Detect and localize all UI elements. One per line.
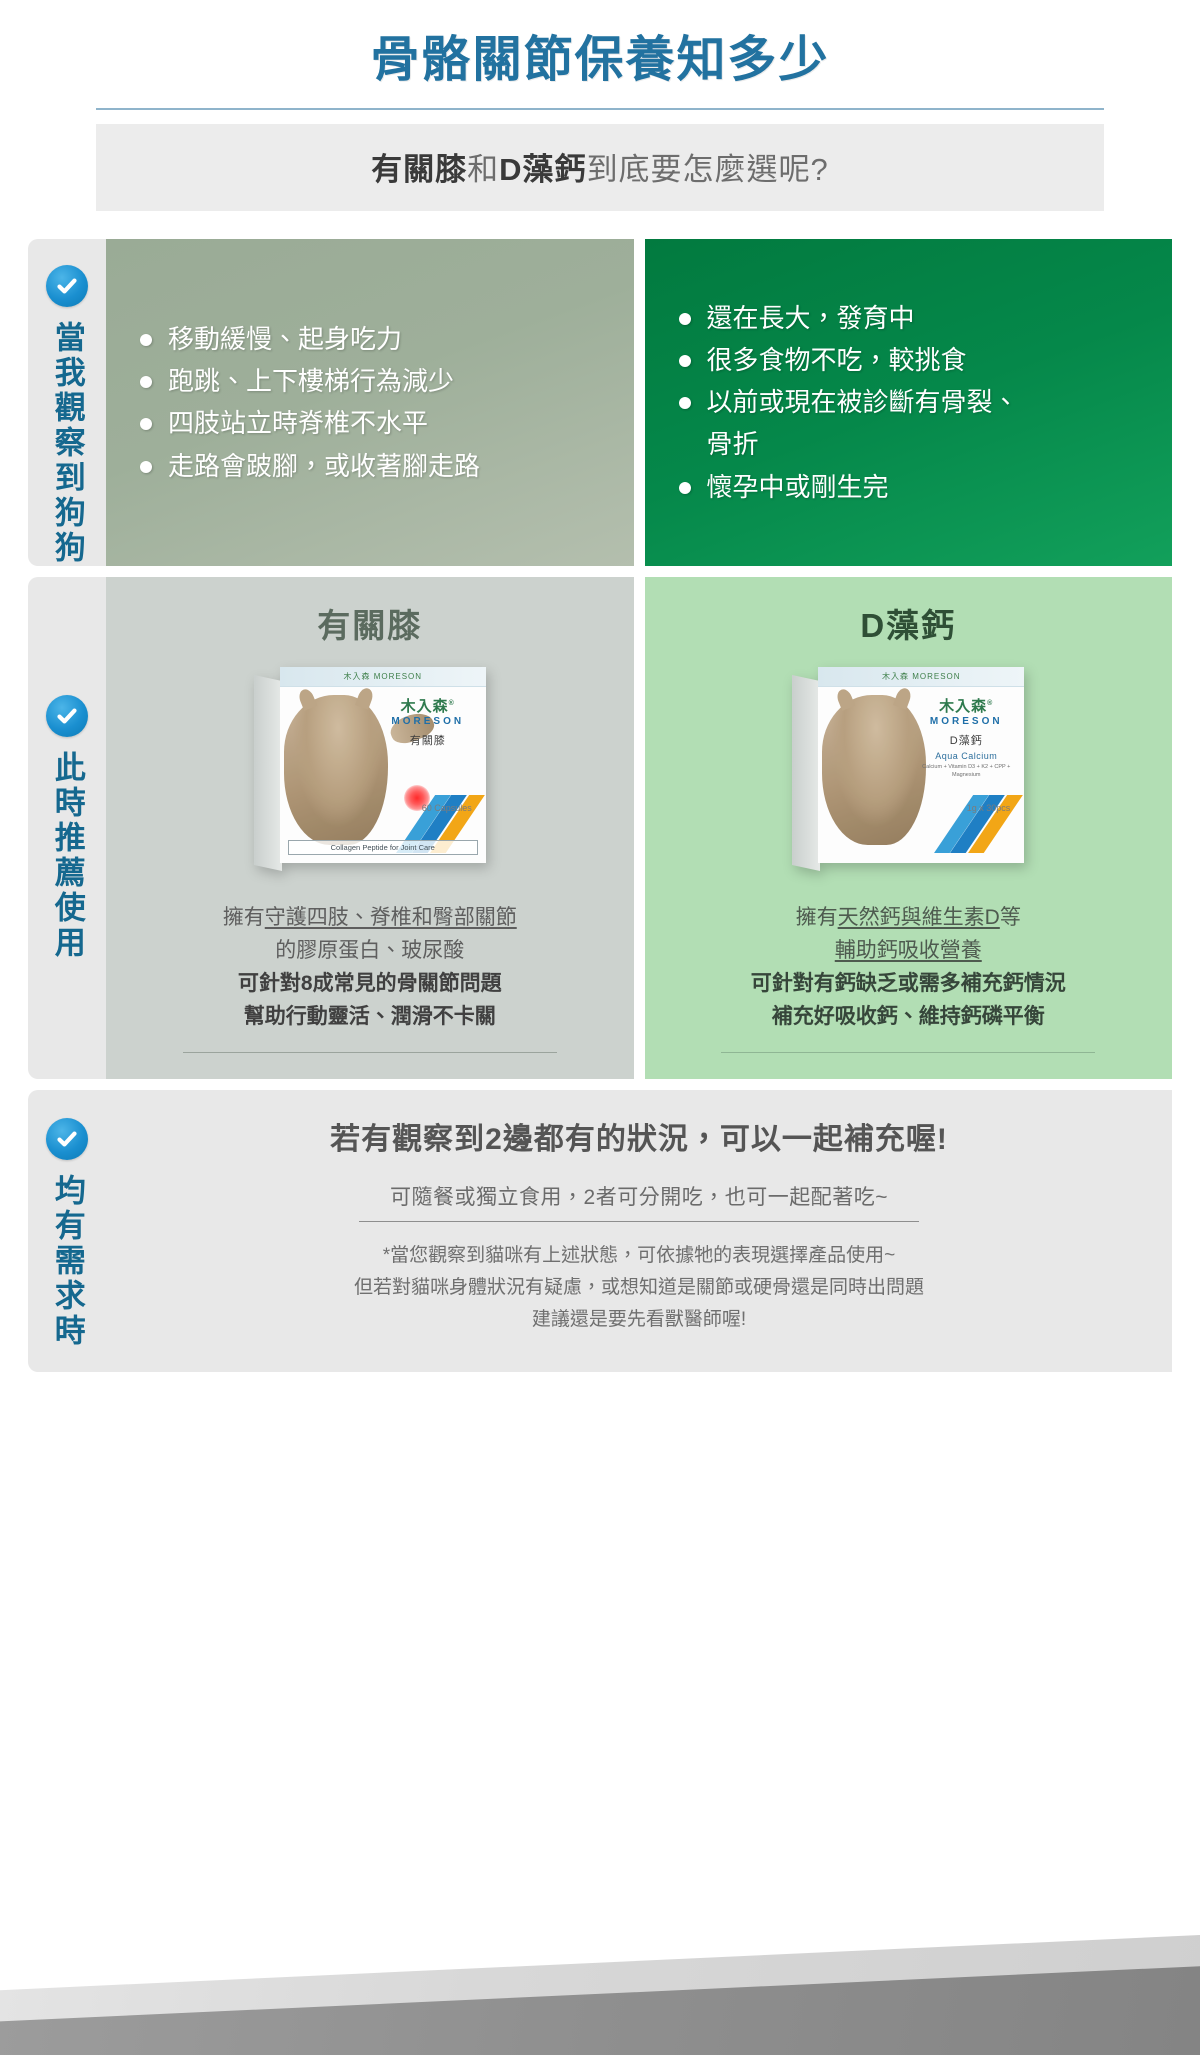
product-description-calcium: 擁有天然鈣與維生素D等 輔助鈣吸收營養 可針對有鈣缺乏或需多補充鈣情況 補充好吸… — [669, 901, 1149, 1053]
package-side-face — [792, 675, 820, 871]
list-item: 四肢站立時脊椎不水平 — [136, 402, 604, 444]
package-footer-text: Collagen Peptide for Joint Care — [288, 840, 478, 855]
desc-line-bold: 可針對有鈣缺乏或需多補充鈣情況 — [669, 967, 1149, 1000]
product-image-calcium: 木入森 MORESON 木入森® MORESON D藻鈣 Aqua Calciu… — [669, 657, 1149, 889]
package-top-strip: 木入森 MORESON — [280, 667, 486, 687]
list-item-continued: 骨折 — [675, 423, 1143, 465]
note-divider — [359, 1221, 919, 1222]
description-divider — [183, 1052, 557, 1053]
note-subtext: 可隨餐或獨立食用，2者可分開吃，也可一起配著吃~ — [146, 1181, 1132, 1211]
package-top-strip-text: 木入森 MORESON — [280, 667, 486, 687]
desc-text: 擁有 — [223, 906, 265, 929]
side-tab-both: 均有需求時 — [28, 1090, 106, 1373]
brand-name-cn-text: 木入森 — [401, 698, 449, 715]
package-quantity: 60 Capsules — [422, 803, 472, 813]
title-divider — [96, 108, 1104, 110]
note-fineprint: *當您觀察到貓咪有上述狀態，可依據牠的表現選擇產品使用~ 但若對貓咪身體狀況有疑… — [146, 1240, 1132, 1337]
desc-underline: 天然鈣與維生素D — [838, 906, 1000, 929]
check-circle-icon — [46, 1118, 88, 1160]
desc-line: 的膠原蛋白、玻尿酸 — [130, 934, 610, 967]
check-circle-icon — [46, 695, 88, 737]
desc-text-post: 等 — [1000, 906, 1021, 929]
list-item: 移動緩慢、起身吃力 — [136, 318, 604, 360]
desc-line: 擁有守護四肢、脊椎和臀部關節 — [130, 901, 610, 934]
package-sub-line-2: Calcium + Vitamin D3 + K2 + CPP + Magnes… — [918, 763, 1014, 780]
fineprint-line: 但若對貓咪身體狀況有疑慮，或想知道是關節或硬骨還是同時出問題 — [146, 1272, 1132, 1304]
product-card-joint[interactable]: 有關膝 木入森 MORESON — [106, 577, 634, 1079]
registered-mark: ® — [987, 700, 993, 707]
product-panels: 有關膝 木入森 MORESON — [106, 577, 1172, 1079]
check-circle-icon — [46, 265, 88, 307]
side-tab-label-both: 均有需求時 — [51, 1174, 83, 1349]
desc-underline: 輔助鈣吸收營養 — [835, 939, 982, 962]
section-symptoms: 當我觀察到狗狗 移動緩慢、起身吃力 跑跳、上下樓梯行為減少 四肢站立時脊椎不水平… — [28, 239, 1172, 566]
fineprint-line: 建議還是要先看獸醫師喔! — [146, 1304, 1132, 1336]
note-heading: 若有觀察到2邊都有的狀況，可以一起補充喔! — [146, 1120, 1132, 1159]
brand-name-cn: 木入森® — [918, 695, 1014, 716]
list-item: 還在長大，發育中 — [675, 297, 1143, 339]
product-image-joint: 木入森 MORESON 木入森® MORESON 有關膝 — [130, 657, 610, 889]
page-subtitle: 有關膝和D藻鈣到底要怎麼選呢? — [96, 144, 1104, 189]
package-product-name: 有關膝 — [380, 732, 476, 748]
symptom-panels: 移動緩慢、起身吃力 跑跳、上下樓梯行為減少 四肢站立時脊椎不水平 走路會跛腳，或… — [106, 239, 1172, 566]
package-side-face — [254, 675, 282, 871]
product-title: 有關膝 — [130, 599, 610, 647]
package-branding: 木入森® MORESON D藻鈣 Aqua Calcium Calcium + … — [918, 695, 1014, 780]
product-title: D藻鈣 — [669, 599, 1149, 647]
content-area: 當我觀察到狗狗 移動緩慢、起身吃力 跑跳、上下樓梯行為減少 四肢站立時脊椎不水平… — [28, 239, 1172, 1373]
desc-text: 擁有 — [796, 906, 838, 929]
combined-use-note: 若有觀察到2邊都有的狀況，可以一起補充喔! 可隨餐或獨立食用，2者可分開吃，也可… — [106, 1090, 1172, 1373]
subtitle-bar: 有關膝和D藻鈣到底要怎麼選呢? — [96, 124, 1104, 211]
desc-underline: 守護四肢、脊椎和臀部關節 — [265, 906, 517, 929]
list-item: 很多食物不吃，較挑食 — [675, 339, 1143, 381]
side-tab-recommend: 此時推薦使用 — [28, 577, 106, 1079]
desc-line-bold: 可針對8成常見的骨關節問題 — [130, 967, 610, 1000]
joint-symptoms-list: 移動緩慢、起身吃力 跑跳、上下樓梯行為減少 四肢站立時脊椎不水平 走路會跛腳，或… — [136, 318, 604, 486]
package-front-face: 木入森 MORESON 木入森® MORESON 有關膝 — [280, 667, 486, 863]
desc-line: 擁有天然鈣與維生素D等 — [669, 901, 1149, 934]
side-tab-label-recommend: 此時推薦使用 — [51, 751, 83, 961]
list-item: 以前或現在被診斷有骨裂、 — [675, 381, 1143, 423]
list-item: 跑跳、上下樓梯行為減少 — [136, 360, 604, 402]
package-branding: 木入森® MORESON 有關膝 — [380, 695, 476, 748]
product-package-illustration: 木入森 MORESON 木入森® MORESON D藻鈣 Aqua Calciu… — [792, 667, 1024, 879]
description-divider — [721, 1052, 1095, 1053]
subtitle-question: 到底要怎麼選呢? — [587, 152, 829, 187]
page-title: 骨骼關節保養知多少 — [0, 34, 1200, 88]
list-item: 走路會跛腳，或收著腳走路 — [136, 445, 604, 487]
subtitle-product-1: 有關膝 — [371, 152, 467, 187]
bone-symptoms-list: 還在長大，發育中 很多食物不吃，較挑食 以前或現在被診斷有骨裂、 骨折 懷孕中或… — [675, 297, 1143, 508]
product-card-calcium[interactable]: D藻鈣 木入森 MORESON 木入森® MO — [645, 577, 1173, 1079]
brand-name-en: MORESON — [380, 716, 476, 727]
section-products: 此時推薦使用 有關膝 木入森 MORESON — [28, 577, 1172, 1079]
desc-line-bold: 補充好吸收鈣、維持鈣磷平衡 — [669, 1000, 1149, 1033]
package-top-strip: 木入森 MORESON — [818, 667, 1024, 687]
package-top-strip-text: 木入森 MORESON — [818, 667, 1024, 687]
package-product-name: D藻鈣 — [918, 732, 1014, 748]
list-item: 懷孕中或剛生完 — [675, 466, 1143, 508]
product-package-illustration: 木入森 MORESON 木入森® MORESON 有關膝 — [254, 667, 486, 879]
product-description-joint: 擁有守護四肢、脊椎和臀部關節 的膠原蛋白、玻尿酸 可針對8成常見的骨關節問題 幫… — [130, 901, 610, 1053]
package-sub-line-1: Aqua Calcium — [918, 751, 1014, 761]
page-header: 骨骼關節保養知多少 有關膝和D藻鈣到底要怎麼選呢? — [0, 0, 1200, 211]
subtitle-product-2: D藻鈣 — [499, 152, 586, 187]
footer-decoration — [0, 1935, 1200, 2055]
package-quantity: 1g x 30pcs — [967, 803, 1011, 813]
brand-name-cn: 木入森® — [380, 695, 476, 716]
registered-mark: ® — [449, 700, 455, 707]
desc-line-bold: 幫助行動靈活、潤滑不卡關 — [130, 1000, 610, 1033]
fineprint-line: *當您觀察到貓咪有上述狀態，可依據牠的表現選擇產品使用~ — [146, 1240, 1132, 1272]
brand-name-en: MORESON — [918, 716, 1014, 727]
note-panels: 若有觀察到2邊都有的狀況，可以一起補充喔! 可隨餐或獨立食用，2者可分開吃，也可… — [106, 1090, 1172, 1373]
brand-name-cn-text: 木入森 — [939, 698, 987, 715]
side-tab-observe: 當我觀察到狗狗 — [28, 239, 106, 566]
desc-line: 輔助鈣吸收營養 — [669, 934, 1149, 967]
bone-symptoms-panel: 還在長大，發育中 很多食物不吃，較挑食 以前或現在被診斷有骨裂、 骨折 懷孕中或… — [645, 239, 1173, 566]
infographic-page: 骨骼關節保養知多少 有關膝和D藻鈣到底要怎麼選呢? 當我觀察到狗狗 移動緩慢、起… — [0, 0, 1200, 2055]
section-both-needed: 均有需求時 若有觀察到2邊都有的狀況，可以一起補充喔! 可隨餐或獨立食用，2者可… — [28, 1090, 1172, 1373]
subtitle-conjunction: 和 — [467, 152, 499, 187]
package-front-face: 木入森 MORESON 木入森® MORESON D藻鈣 Aqua Calciu… — [818, 667, 1024, 863]
side-tab-label-observe: 當我觀察到狗狗 — [51, 321, 83, 566]
joint-symptoms-panel: 移動緩慢、起身吃力 跑跳、上下樓梯行為減少 四肢站立時脊椎不水平 走路會跛腳，或… — [106, 239, 634, 566]
